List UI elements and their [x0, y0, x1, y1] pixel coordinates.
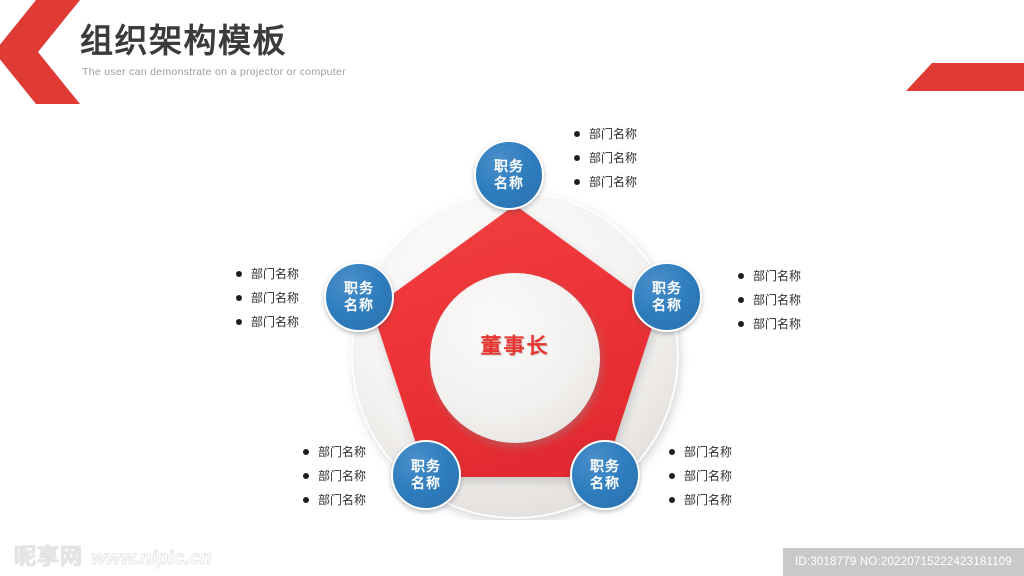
bullet-icon — [236, 295, 242, 301]
dept-label: 部门名称 — [684, 494, 732, 506]
role-node-bottom-right[interactable]: 职务 名称 — [570, 440, 640, 510]
bullet-icon — [738, 297, 744, 303]
dept-label: 部门名称 — [753, 270, 801, 282]
role-node-line2: 名称 — [590, 475, 620, 492]
title-block: 组织架构模板 The user can demonstrate on a pro… — [80, 22, 346, 78]
list-item: 部门名称 — [574, 128, 637, 140]
center-role-label: 董事长 — [460, 330, 570, 360]
dept-list-bottom-left: 部门名称 部门名称 部门名称 — [303, 446, 366, 506]
dept-label: 部门名称 — [251, 292, 299, 304]
bullet-icon — [236, 319, 242, 325]
bullet-icon — [669, 449, 675, 455]
bullet-icon — [574, 131, 580, 137]
role-node-line2: 名称 — [411, 475, 441, 492]
dept-list-right: 部门名称 部门名称 部门名称 — [738, 270, 801, 330]
role-node-line1: 职务 — [652, 280, 682, 297]
list-item: 部门名称 — [738, 270, 801, 282]
site-watermark: 昵享网 www.nipic.cn — [14, 546, 212, 568]
role-node-line1: 职务 — [344, 280, 374, 297]
watermark-logo-text: 昵享网 — [14, 546, 83, 568]
role-node-bottom-left[interactable]: 职务 名称 — [391, 440, 461, 510]
list-item: 部门名称 — [574, 176, 637, 188]
role-node-line1: 职务 — [590, 458, 620, 475]
page-title: 组织架构模板 — [80, 22, 346, 60]
list-item: 部门名称 — [574, 152, 637, 164]
list-item: 部门名称 — [303, 446, 366, 458]
role-node-top[interactable]: 职务 名称 — [474, 140, 544, 210]
page-header: 组织架构模板 The user can demonstrate on a pro… — [0, 0, 1024, 115]
dept-list-bottom-right: 部门名称 部门名称 部门名称 — [669, 446, 732, 506]
list-item: 部门名称 — [236, 316, 299, 328]
dept-label: 部门名称 — [318, 494, 366, 506]
list-item: 部门名称 — [669, 470, 732, 482]
parallelogram-accent-icon — [906, 63, 1024, 91]
list-item: 部门名称 — [303, 494, 366, 506]
bullet-icon — [574, 179, 580, 185]
list-item: 部门名称 — [236, 292, 299, 304]
dept-label: 部门名称 — [318, 446, 366, 458]
list-item: 部门名称 — [236, 268, 299, 280]
list-item: 部门名称 — [669, 494, 732, 506]
bullet-icon — [303, 473, 309, 479]
role-node-line1: 职务 — [494, 158, 524, 175]
role-node-left[interactable]: 职务 名称 — [324, 262, 394, 332]
bullet-icon — [738, 321, 744, 327]
dept-label: 部门名称 — [684, 470, 732, 482]
list-item: 部门名称 — [738, 318, 801, 330]
dept-label: 部门名称 — [251, 316, 299, 328]
bullet-icon — [303, 497, 309, 503]
image-id-text: ID:3018779 NO:20220715222423181109 — [795, 556, 1012, 568]
dept-list-left: 部门名称 部门名称 部门名称 — [236, 268, 299, 328]
bullet-icon — [738, 273, 744, 279]
bullet-icon — [669, 473, 675, 479]
bullet-icon — [303, 449, 309, 455]
watermark-url-text: www.nipic.cn — [91, 549, 212, 568]
role-node-right[interactable]: 职务 名称 — [632, 262, 702, 332]
chevron-left-icon — [0, 0, 80, 104]
bullet-icon — [669, 497, 675, 503]
dept-label: 部门名称 — [318, 470, 366, 482]
list-item: 部门名称 — [303, 470, 366, 482]
dept-label: 部门名称 — [589, 128, 637, 140]
dept-label: 部门名称 — [753, 318, 801, 330]
dept-label: 部门名称 — [753, 294, 801, 306]
image-id-bar: ID:3018779 NO:20220715222423181109 — [783, 548, 1024, 576]
bullet-icon — [236, 271, 242, 277]
page-subtitle: The user can demonstrate on a projector … — [82, 66, 346, 78]
dept-label: 部门名称 — [589, 152, 637, 164]
list-item: 部门名称 — [669, 446, 732, 458]
role-node-line2: 名称 — [344, 297, 374, 314]
list-item: 部门名称 — [738, 294, 801, 306]
dept-label: 部门名称 — [684, 446, 732, 458]
dept-label: 部门名称 — [589, 176, 637, 188]
role-node-line2: 名称 — [494, 175, 524, 192]
dept-list-top: 部门名称 部门名称 部门名称 — [574, 128, 637, 188]
role-node-line1: 职务 — [411, 458, 441, 475]
role-node-line2: 名称 — [652, 297, 682, 314]
dept-label: 部门名称 — [251, 268, 299, 280]
bullet-icon — [574, 155, 580, 161]
